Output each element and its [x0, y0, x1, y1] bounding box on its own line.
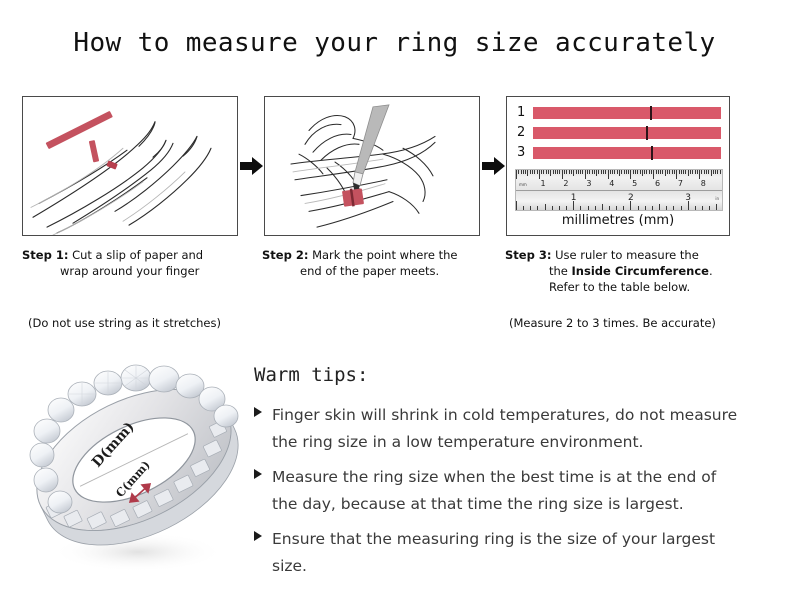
step-1-note: (Do not use string as it stretches): [28, 316, 221, 330]
ruler-tick: [564, 170, 565, 174]
ruler-tick: [681, 206, 682, 210]
ruler-tick: [539, 170, 540, 179]
step-3-line2-suffix: .: [709, 264, 713, 278]
ruler-centimetre-band: 12345678: [516, 170, 722, 191]
ruler-tick: [602, 204, 603, 210]
ruler-tick: [720, 170, 721, 174]
step-3-line2: the Inside Circumference.: [505, 263, 767, 279]
ruler-tick: [553, 170, 554, 174]
ruler-tick: [617, 170, 618, 174]
ruler-tick: [695, 170, 696, 174]
ruler-tick: [589, 170, 590, 174]
ruler-tick: [699, 170, 700, 179]
ruler-tick: [585, 170, 586, 179]
ruler-tick: [578, 170, 579, 174]
paper-strip-red: [533, 147, 721, 159]
ruler-tick: [697, 170, 698, 174]
ruler-cm-label: 1: [541, 180, 546, 188]
ruler-tick: [653, 170, 654, 179]
ruler-tick: [576, 170, 577, 174]
warm-tips-section: Warm tips: Finger skin will shrink in co…: [254, 364, 774, 588]
ruler-cm-label: 5: [632, 180, 637, 188]
ruler-tick: [717, 170, 718, 174]
ruler-tick: [557, 170, 558, 174]
step-2-label: Step 2:: [262, 248, 308, 262]
ruler-tick: [601, 170, 602, 174]
hand-marking-paper-with-pen-illustration: [265, 97, 479, 235]
step-1-line2: wrap around your finger: [22, 263, 254, 279]
ruler-tick: [646, 170, 647, 174]
ruler-image: 12345678 123 mm in: [515, 169, 723, 211]
ruler-tick: [550, 170, 551, 176]
strip-number: 3: [517, 146, 533, 159]
ruler-tick: [609, 206, 610, 210]
ruler-unit-label-mm: mm: [519, 182, 527, 187]
step-1-caption: Step 1: Cut a slip of paper and wrap aro…: [22, 247, 254, 279]
step-2-image-panel: [264, 96, 480, 236]
ruler-tick: [582, 170, 583, 174]
ruler-inch-label: 3: [685, 194, 691, 203]
ruler-tick: [612, 170, 613, 174]
ruler-tick: [711, 170, 712, 176]
ruler-tick: [546, 170, 547, 174]
ruler-tick: [660, 170, 661, 174]
paper-strip-red: [533, 107, 721, 119]
ruler-tick: [537, 170, 538, 174]
ruler-tick: [559, 206, 560, 210]
ruler-tick: [555, 170, 556, 174]
ruler-tick: [626, 170, 627, 174]
strip-mark-line: [650, 106, 652, 120]
ruler-tick: [610, 170, 611, 174]
tip-item: Finger skin will shrink in cold temperat…: [254, 402, 774, 456]
ruler-tick: [545, 204, 546, 210]
ruler-tick: [530, 170, 531, 174]
paper-strip-red: [342, 188, 364, 206]
ruler-tick: [516, 201, 517, 210]
steps-panel-row: 1 2 3 12345678 123 mm in: [22, 96, 768, 236]
step-2-line1: Mark the point where the: [312, 248, 457, 262]
ruler-tick: [588, 206, 589, 210]
ruler-tick: [573, 170, 574, 176]
ruler-inch-band: 123: [516, 191, 722, 210]
strip-row: 3: [517, 144, 721, 161]
ruler-tick: [692, 170, 693, 174]
ruler-tick: [669, 170, 670, 174]
step-1-label: Step 1:: [22, 248, 68, 262]
ruler-tick: [523, 170, 524, 174]
ruler-tick: [608, 170, 609, 179]
ruler-tick: [605, 170, 606, 174]
ruler-tick: [633, 170, 634, 174]
step-2-line2: end of the paper meets.: [262, 263, 494, 279]
ruler-tick: [673, 206, 674, 210]
ruler-tick: [523, 206, 524, 210]
ruler-inch-label: 2: [628, 194, 634, 203]
ruler-tick: [534, 170, 535, 174]
ruler-tick: [683, 170, 684, 174]
step-3-line2-prefix: the: [549, 264, 572, 278]
step-3-image-panel: 1 2 3 12345678 123 mm in: [506, 96, 730, 236]
ruler-tick: [679, 170, 680, 174]
ruler-tick: [587, 170, 588, 174]
ruler-tick: [527, 170, 528, 176]
ruler-tick: [635, 170, 636, 174]
ruler-cm-label: 4: [609, 180, 614, 188]
strip-number: 2: [517, 126, 533, 139]
step-3-label: Step 3:: [505, 248, 551, 262]
ruler-tick: [543, 170, 544, 174]
ruler-tick: [715, 170, 716, 174]
hand-with-paper-strip-illustration: [23, 97, 237, 235]
ruler-tick: [616, 206, 617, 210]
ruler-tick: [645, 206, 646, 210]
ruler-tick: [704, 170, 705, 174]
ruler-tick: [603, 170, 604, 174]
ruler-inch-label: 1: [571, 194, 577, 203]
ruler-cm-label: 6: [655, 180, 660, 188]
ruler-tick: [566, 170, 567, 174]
ruler-tick: [541, 170, 542, 174]
tip-text: Finger skin will shrink in cold temperat…: [272, 402, 742, 456]
ruler-tick: [619, 170, 620, 176]
paper-strip-red: [46, 111, 118, 170]
ruler-tick: [722, 170, 723, 179]
step-3-caption: Step 3: Use ruler to measure the the Ins…: [505, 247, 767, 295]
strip-row: 1: [517, 104, 721, 121]
warm-tips-heading: Warm tips:: [254, 364, 774, 386]
ruler-tick: [701, 170, 702, 174]
ruler-tick: [658, 170, 659, 174]
ruler-tick: [637, 170, 638, 174]
step-1-image-panel: [22, 96, 238, 236]
ruler-tick: [598, 170, 599, 174]
arrow-1: [238, 96, 264, 236]
ruler-tick: [644, 170, 645, 174]
ruler-tick: [685, 170, 686, 174]
ruler-tick: [659, 204, 660, 210]
ruler-tick: [672, 170, 673, 174]
ruler-tick: [562, 170, 563, 179]
ruler-tick: [716, 204, 717, 210]
strip-mark-line: [651, 146, 653, 160]
step-captions-row: Step 1: Cut a slip of paper and wrap aro…: [22, 247, 768, 347]
tip-item: Measure the ring size when the best time…: [254, 464, 774, 518]
ruler-tick: [709, 206, 710, 210]
triangle-right-bullet-icon: [254, 464, 272, 479]
ruler-tick: [537, 206, 538, 210]
ruler-tick: [665, 170, 666, 176]
ruler-tick: [676, 170, 677, 179]
ruler-tick: [532, 170, 533, 174]
ruler-tick: [695, 206, 696, 210]
triangle-right-bullet-icon: [254, 526, 272, 541]
ruler-tick: [713, 170, 714, 174]
ruler-cm-label: 7: [678, 180, 683, 188]
step-2-caption: Step 2: Mark the point where the end of …: [262, 247, 494, 279]
tip-text: Measure the ring size when the best time…: [272, 464, 742, 518]
ruler-tick: [614, 170, 615, 174]
ruler-tick: [690, 170, 691, 174]
tip-text: Ensure that the measuring ring is the si…: [272, 526, 742, 580]
ruler-tick: [662, 170, 663, 174]
strip-number: 1: [517, 106, 533, 119]
ruler-tick: [518, 170, 519, 174]
ruler-tick: [621, 170, 622, 174]
step-1-line1: Cut a slip of paper and: [72, 248, 203, 262]
ruler-tick: [688, 170, 689, 176]
ruler-tick: [592, 170, 593, 174]
ruler-tick: [656, 170, 657, 174]
ruler-tick: [640, 170, 641, 174]
strip-mark-line: [646, 126, 648, 140]
ruler-tick: [649, 170, 650, 174]
ruler-tick: [548, 170, 549, 174]
ruler-tick: [571, 170, 572, 174]
ruler-tick: [708, 170, 709, 174]
step-3-line3: Refer to the table below.: [505, 279, 767, 295]
page-title: How to measure your ring size accurately: [0, 28, 789, 58]
ruler-tick: [628, 170, 629, 174]
ruler-tick: [638, 206, 639, 210]
measured-strips-group: 1 2 3: [517, 104, 721, 164]
ruler-tick: [706, 170, 707, 174]
ruler-tick: [569, 170, 570, 174]
ruler-caption: millimetres (mm): [507, 213, 729, 228]
ruler-tick: [566, 206, 567, 210]
strip-row: 2: [517, 124, 721, 141]
ruler-tick: [530, 206, 531, 210]
ruler-tick: [525, 170, 526, 174]
ruler-tick: [595, 206, 596, 210]
ruler-tick: [580, 206, 581, 210]
ruler-tick: [552, 206, 553, 210]
ruler-tick: [681, 170, 682, 174]
step-3-note: (Measure 2 to 3 times. Be accurate): [509, 316, 716, 330]
triangle-right-bullet-icon: [254, 402, 272, 417]
step-3-line1: Use ruler to measure the: [555, 248, 699, 262]
ruler-tick: [651, 170, 652, 174]
ruler-tick: [666, 206, 667, 210]
ruler-tick: [652, 206, 653, 210]
ring-diagram: D(mm) C(mm): [18, 352, 250, 580]
ruler-tick: [521, 170, 522, 174]
ruler-tick: [624, 170, 625, 174]
ruler-tick: [594, 170, 595, 174]
ruler-tick: [580, 170, 581, 174]
ruler-tick: [596, 170, 597, 176]
ruler-tick: [516, 170, 517, 179]
pen-icon: [353, 105, 389, 192]
inside-circumference-emphasis: Inside Circumference: [572, 264, 709, 278]
ruler-tick: [702, 206, 703, 210]
ruler-tick: [630, 170, 631, 179]
ruler-tick: [667, 170, 668, 174]
ruler-tick: [642, 170, 643, 176]
diamond-eternity-ring-illustration: D(mm) C(mm): [18, 352, 250, 580]
ruler-cm-label: 3: [586, 180, 591, 188]
ruler-tick: [674, 170, 675, 174]
paper-strip-red: [533, 127, 721, 139]
ruler-tick: [623, 206, 624, 210]
arrow-2: [480, 96, 506, 236]
ruler-unit-label-in: in: [715, 196, 719, 201]
ruler-tick: [559, 170, 560, 174]
ruler-cm-label: 8: [701, 180, 706, 188]
ruler-cm-label: 2: [563, 180, 568, 188]
tip-item: Ensure that the measuring ring is the si…: [254, 526, 774, 580]
